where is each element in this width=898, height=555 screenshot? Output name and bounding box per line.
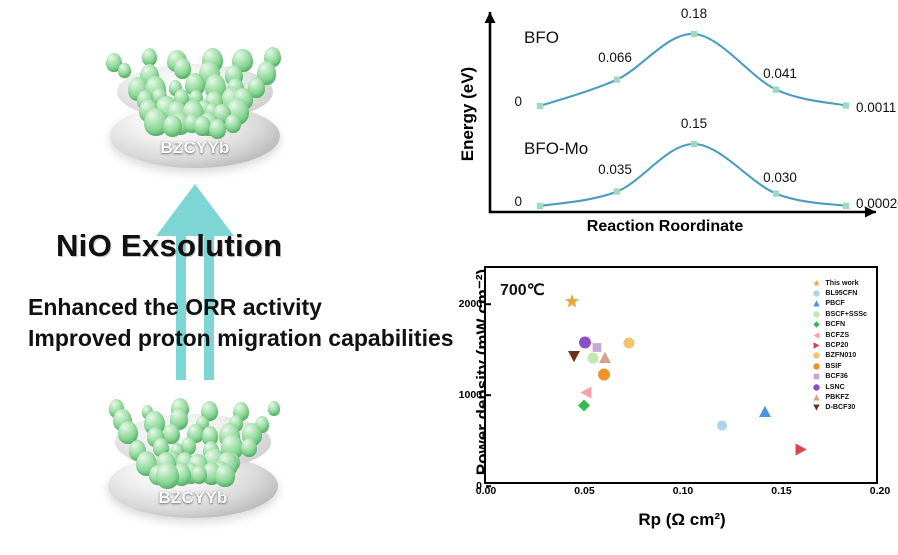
legend-item-label: BCF36 — [825, 373, 847, 380]
nio-particle — [142, 48, 157, 66]
legend-marker-icon — [811, 351, 822, 361]
y-tick-mark — [486, 304, 491, 306]
benefit-text-proton: Improved proton migration capabilities — [28, 325, 454, 352]
legend-item-lsnc[interactable]: LSNC — [811, 382, 867, 392]
legend-item-bzfn010[interactable]: BZFN010 — [811, 351, 867, 361]
y-tick-mark — [486, 394, 491, 396]
energy-marker — [773, 86, 779, 92]
x-tick-label: 0.05 — [574, 485, 594, 497]
legend-marker-icon — [811, 403, 822, 413]
y-tick-label: 1000 — [459, 389, 482, 401]
left-schematic-panel: BZCYYb NiO Exsolution Enhanced the ORR a… — [0, 0, 432, 555]
nio-particle — [241, 438, 257, 457]
nio-particle — [156, 462, 179, 489]
scatter-point-bcfzs[interactable] — [580, 386, 593, 404]
nio-exsolution-title: NiO Exsolution — [56, 228, 282, 264]
energy-curve-bfo — [540, 34, 846, 106]
energy-value-label: 0.15 — [681, 116, 707, 131]
energy-value-label: 0.035 — [598, 162, 632, 177]
scatter-x-axis-label: Rp (Ω cm²) — [472, 510, 892, 530]
legend-item-label: BSIF — [825, 363, 841, 370]
legend-item-pbcf[interactable]: PBCF — [811, 299, 867, 309]
energy-value-label: 0.00020 — [856, 196, 898, 211]
legend-item-label: BZFN010 — [825, 352, 856, 359]
legend-item-bcfn[interactable]: BCFN — [811, 320, 867, 330]
scatter-point-bzfn010[interactable] — [623, 336, 635, 354]
energy-marker — [614, 76, 620, 82]
energy-marker — [537, 103, 543, 109]
energy-diagram-plot — [432, 0, 898, 248]
energy-marker — [773, 190, 779, 196]
x-tick-label: 0.20 — [870, 485, 890, 497]
temperature-badge: 700℃ — [500, 280, 545, 300]
legend-marker-icon — [811, 330, 822, 340]
particle-cluster-bottom: BZCYYb — [108, 378, 278, 518]
y-tick-label: 2000 — [459, 298, 482, 310]
legend-marker-icon — [811, 392, 822, 402]
particle-cluster-top: BZCYYb — [110, 28, 280, 168]
energy-marker — [537, 203, 543, 209]
nio-particle — [194, 116, 211, 136]
scatter-point-this-work[interactable] — [564, 294, 579, 314]
graphical-abstract-figure: BZCYYb NiO Exsolution Enhanced the ORR a… — [0, 0, 898, 555]
x-tick-label: 0.15 — [771, 485, 791, 497]
x-tick-label: 0.10 — [673, 485, 693, 497]
legend-item-label: This work — [825, 280, 858, 287]
legend-item-bl95cfn[interactable]: BL95CFN — [811, 288, 867, 298]
scatter-plot-frame: 700℃ 0100020000.000.050.100.150.20 This … — [484, 266, 878, 484]
energy-value-label: 0.041 — [763, 66, 797, 81]
energy-value-label: 0 — [514, 94, 522, 109]
legend-marker-icon — [811, 289, 822, 299]
curve-label-bfo-mo: BFO-Mo — [524, 139, 588, 159]
legend-item-this-work[interactable]: This work — [811, 278, 867, 288]
legend-marker-icon — [811, 382, 822, 392]
legend-item-bcf36[interactable]: BCF36 — [811, 372, 867, 382]
legend-marker-icon — [811, 372, 822, 382]
energy-marker — [843, 203, 849, 209]
energy-value-label: 0.066 — [598, 50, 632, 65]
legend-item-label: BCP20 — [825, 342, 848, 349]
legend-item-label: BSCF+SSSc — [825, 311, 867, 318]
legend-item-label: PBKFZ — [825, 394, 849, 401]
energy-marker — [843, 102, 849, 108]
nio-particle — [215, 464, 234, 487]
legend-marker-icon — [811, 299, 822, 309]
legend-marker-icon — [811, 278, 822, 288]
scatter-point-pbcf[interactable] — [758, 405, 771, 423]
energy-marker — [691, 31, 697, 37]
curve-label-bfo: BFO — [524, 28, 559, 48]
legend-marker-icon — [811, 320, 822, 330]
scatter-point-bsif[interactable] — [598, 368, 611, 386]
nio-particle — [209, 119, 226, 139]
legend-item-label: D-BCF30 — [825, 404, 855, 411]
scatter-point-pbkfz[interactable] — [599, 351, 612, 369]
legend-marker-icon — [811, 341, 822, 351]
legend-item-bsif[interactable]: BSIF — [811, 361, 867, 371]
nio-particle — [225, 114, 241, 133]
energy-value-label: 0 — [514, 194, 522, 209]
energy-marker — [691, 141, 697, 147]
energy-marker — [614, 188, 620, 194]
legend-item-bcp20[interactable]: BCP20 — [811, 340, 867, 350]
scatter-point-bcp20[interactable] — [795, 443, 808, 461]
legend-item-label: PBCF — [825, 300, 844, 307]
nio-particle — [268, 401, 280, 415]
legend-marker-icon — [811, 309, 822, 319]
nio-particle — [118, 63, 130, 77]
legend-item-label: BL95CFN — [825, 290, 857, 297]
scatter-point-lsnc[interactable] — [579, 336, 592, 354]
legend-item-bscf-sssc[interactable]: BSCF+SSSc — [811, 309, 867, 319]
scatter-legend: This workBL95CFNPBCFBSCF+SSScBCFNBCFZSBC… — [808, 276, 870, 415]
benefit-text-orr: Enhanced the ORR activity — [28, 294, 322, 321]
legend-item-label: BCFN — [825, 321, 845, 328]
nio-particle — [191, 465, 207, 484]
scatter-point-d-bcf30[interactable] — [568, 350, 581, 368]
legend-item-label: BCFZS — [825, 332, 849, 339]
scatter-point-bl95cfn[interactable] — [717, 418, 728, 436]
legend-item-pbkfz[interactable]: PBKFZ — [811, 392, 867, 402]
x-tick-label: 0.00 — [476, 485, 496, 497]
legend-item-label: LSNC — [825, 384, 844, 391]
legend-marker-icon — [811, 361, 822, 371]
legend-item-d-bcf30[interactable]: D-BCF30 — [811, 403, 867, 413]
legend-item-bcfzs[interactable]: BCFZS — [811, 330, 867, 340]
energy-value-label: 0.0011 — [856, 100, 896, 115]
scatter-plot-panel: Power density (mW cm⁻²) 700℃ 0100020000.… — [432, 252, 898, 555]
energy-diagram-panel: Energy (eV) Reaction Roordinate BFO BFO-… — [432, 0, 898, 248]
energy-value-label: 0.18 — [681, 6, 707, 21]
energy-value-label: 0.030 — [763, 170, 797, 185]
nio-particle — [163, 115, 182, 137]
